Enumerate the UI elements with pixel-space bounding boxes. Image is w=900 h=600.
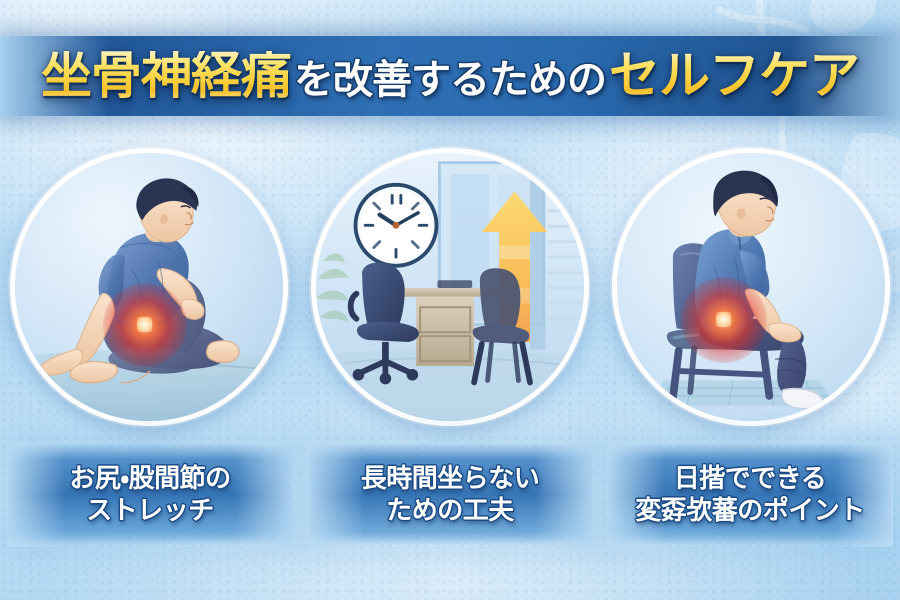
panel-sitting-time[interactable] (311, 148, 589, 426)
caption-posture-line2: 変孬欤蕃のポイント (635, 497, 865, 525)
panel-stretch[interactable] (10, 148, 288, 426)
caption-sitting-time-line1: 長時間坐らない (361, 465, 540, 493)
caption-stretch-line1: お尻・股間節の (69, 465, 230, 493)
title-highlight-selfcare: セルフケア (608, 51, 860, 102)
caption-posture: 日揩でできる 変孬欤蕃のポイント (608, 443, 892, 547)
caption-posture-line1: 日揩でできる (674, 465, 826, 493)
title-banner: 坐骨神経痛 を改善するための セルフケア (0, 36, 900, 116)
page-title: 坐骨神経痛 を改善するための セルフケア (40, 51, 860, 102)
caption-stretch: お尻・股間節の ストレッチ (8, 443, 292, 547)
title-plain-text: を改善するための (292, 60, 608, 100)
caption-sitting-time-line2: ための工夫 (386, 497, 514, 525)
poster-root: 坐骨神経痛 を改善するための セルフケア (0, 0, 900, 600)
circle-image-office (311, 148, 589, 426)
illustration-row (0, 148, 900, 426)
circle-image-stretch (10, 148, 288, 426)
panel-posture[interactable] (612, 148, 890, 426)
caption-sitting-time: 長時間坐らない ための工夫 (308, 443, 592, 547)
title-highlight-sciatica: 坐骨神経痛 (40, 51, 292, 102)
caption-stretch-line2: ストレッチ (86, 497, 214, 525)
circle-image-posture (612, 148, 890, 426)
caption-row: お尻・股間節の ストレッチ 長時間坐らない ための工夫 日揩でできる 変孬欤蕃の… (0, 443, 900, 553)
